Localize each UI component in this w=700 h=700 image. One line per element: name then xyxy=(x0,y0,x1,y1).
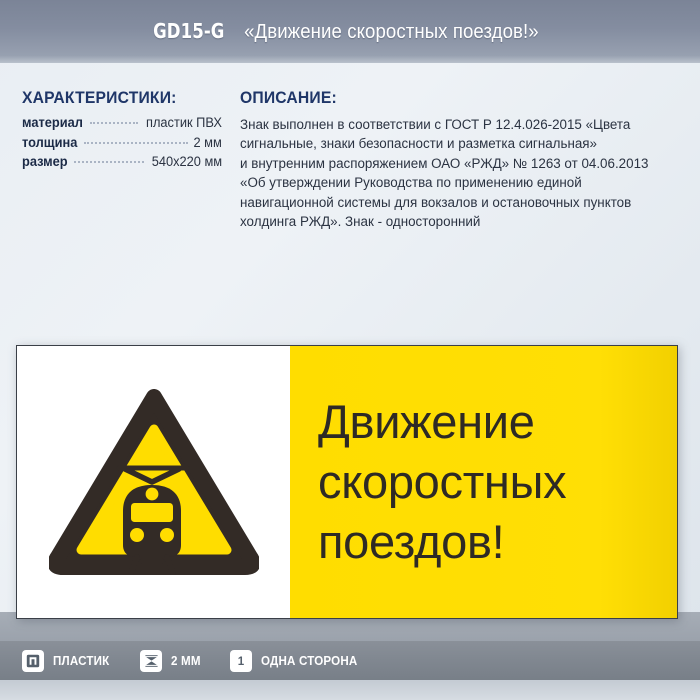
spec-label-size: размер xyxy=(22,154,68,169)
sign-text-line: Движение xyxy=(318,392,677,452)
header-bar: GD15-G «Движение скоростных поездов!» xyxy=(0,0,700,63)
sign-text-line: скоростных xyxy=(318,452,677,512)
footer-item-material: ПЛАСТИК xyxy=(22,650,114,672)
spec-row-thickness: толщина 2 мм xyxy=(22,135,222,150)
description-heading: ОПИСАНИЕ: xyxy=(240,89,658,108)
spec-value-size: 540х220 мм xyxy=(152,154,222,169)
description-line: холдинга РЖД». Знак - односторонний xyxy=(240,212,680,231)
warning-train-triangle-icon xyxy=(49,389,259,575)
characteristics-block: ХАРАКТЕРИСТИКИ: материал пластик ПВХ тол… xyxy=(22,89,222,174)
spec-row-size: размер 540х220 мм xyxy=(22,154,222,169)
footer-bar: ПЛАСТИК 2 ММ 1 ОДНА СТОРОНА xyxy=(0,641,700,680)
page-root: GD15-G «Движение скоростных поездов!» ХА… xyxy=(0,0,700,700)
description-line: и внутренним распоряжением ОАО «РЖД» № 1… xyxy=(240,154,680,173)
dot-leader xyxy=(84,142,188,144)
dot-leader xyxy=(90,122,138,124)
info-section: ХАРАКТЕРИСТИКИ: материал пластик ПВХ тол… xyxy=(0,63,700,328)
spec-value-thickness: 2 мм xyxy=(194,135,222,150)
footer-label-material: ПЛАСТИК xyxy=(53,654,109,668)
description-line: сигнальные, знаки безопасности и разметк… xyxy=(240,134,680,153)
footer-item-thickness: 2 ММ xyxy=(140,650,203,672)
spec-value-material: пластик ПВХ xyxy=(146,115,222,130)
spec-label-thickness: толщина xyxy=(22,135,77,150)
spec-row-material: материал пластик ПВХ xyxy=(22,115,222,130)
description-line: «Об утверждении Руководства по применени… xyxy=(240,173,680,192)
description-line: навигационной системы для вокзалов и ост… xyxy=(240,193,680,212)
characteristics-heading: ХАРАКТЕРИСТИКИ: xyxy=(22,89,212,108)
product-code: GD15-G xyxy=(153,19,224,43)
footer-base-strip xyxy=(0,680,700,700)
spec-label-material: материал xyxy=(22,115,83,130)
one-side-icon: 1 xyxy=(230,650,252,672)
footer-label-sides: ОДНА СТОРОНА xyxy=(261,654,357,668)
dot-leader xyxy=(74,161,144,163)
plastic-icon xyxy=(22,650,44,672)
sign-text-area: Движение скоростных поездов! xyxy=(290,346,677,618)
sign-pictogram-area xyxy=(17,346,290,618)
thickness-icon xyxy=(140,650,162,672)
footer-item-sides: 1 ОДНА СТОРОНА xyxy=(230,650,366,672)
description-text: Знак выполнен в соответствии с ГОСТ Р 12… xyxy=(240,115,680,231)
page-title: GD15-G «Движение скоростных поездов!» xyxy=(150,19,550,44)
footer-label-thickness: 2 ММ xyxy=(171,654,201,668)
description-line: Знак выполнен в соответствии с ГОСТ Р 12… xyxy=(240,115,680,134)
description-block: ОПИСАНИЕ: Знак выполнен в соответствии с… xyxy=(240,89,680,231)
sign-preview: Движение скоростных поездов! xyxy=(16,345,678,619)
product-name: «Движение скоростных поездов!» xyxy=(244,21,539,44)
svg-text:1: 1 xyxy=(237,656,244,668)
sign-text-line: поездов! xyxy=(318,512,677,572)
